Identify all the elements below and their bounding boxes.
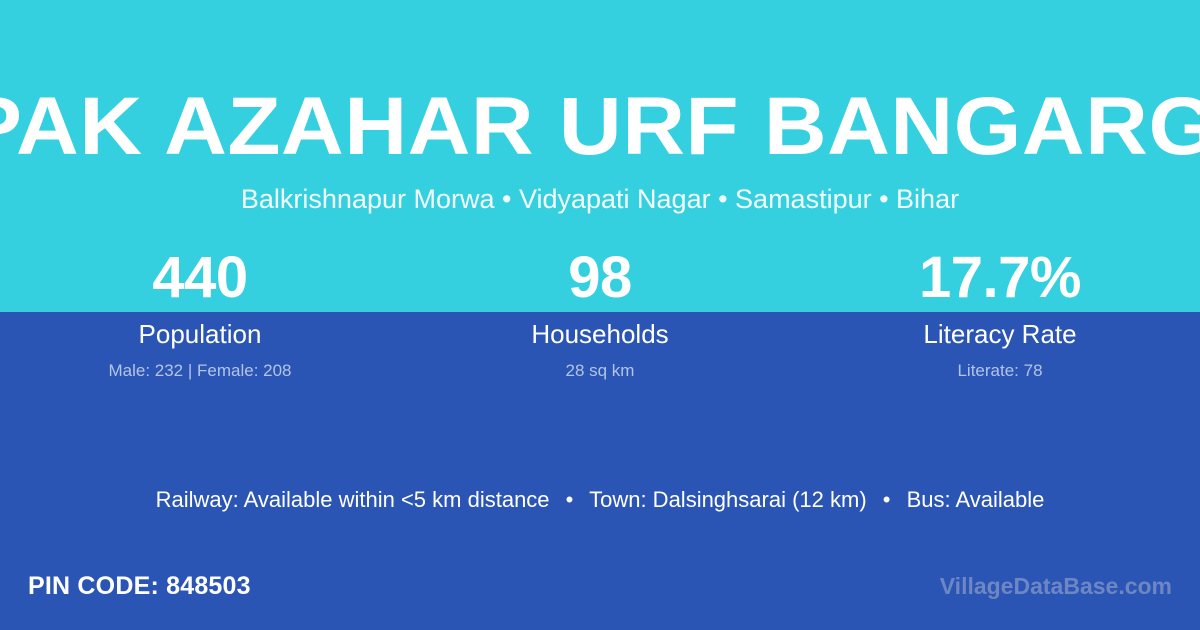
- stat-value: 98: [400, 244, 800, 312]
- site-branding: VillageDataBase.com: [940, 566, 1172, 606]
- bullet-separator: •: [556, 484, 584, 516]
- stat-label: Households: [400, 316, 800, 352]
- stat-literacy-rate: 17.7% Literacy Rate Literate: 78: [800, 244, 1200, 384]
- stat-value: 440: [0, 244, 400, 312]
- stat-households: 98 Households 28 sq km: [400, 244, 800, 384]
- connectivity-railway: Railway: Available within <5 km distance: [156, 487, 550, 512]
- stat-sublabel: Literate: 78: [800, 358, 1200, 384]
- bullet-separator: •: [873, 484, 901, 516]
- footer: PIN CODE: 848503 VillageDataBase.com: [0, 566, 1200, 606]
- village-info-card: PAK AZAHAR URF BANGARGAWAN Balkrishnapur…: [0, 0, 1200, 630]
- page-title: PAK AZAHAR URF BANGARGAWAN: [0, 84, 1200, 170]
- stat-sublabel: 28 sq km: [400, 358, 800, 384]
- stat-label: Population: [0, 316, 400, 352]
- location-breadcrumb: Balkrishnapur Morwa • Vidyapati Nagar • …: [0, 182, 1200, 216]
- connectivity-bus: Bus: Available: [907, 487, 1045, 512]
- stat-label: Literacy Rate: [800, 316, 1200, 352]
- stat-population: 440 Population Male: 232 | Female: 208: [0, 244, 400, 384]
- stats-row: 440 Population Male: 232 | Female: 208 9…: [0, 244, 1200, 384]
- connectivity-row: Railway: Available within <5 km distance…: [0, 484, 1200, 516]
- pin-code: PIN CODE: 848503: [28, 566, 251, 606]
- connectivity-town: Town: Dalsinghsarai (12 km): [589, 487, 867, 512]
- stat-sublabel: Male: 232 | Female: 208: [0, 358, 400, 384]
- stat-value: 17.7%: [800, 244, 1200, 312]
